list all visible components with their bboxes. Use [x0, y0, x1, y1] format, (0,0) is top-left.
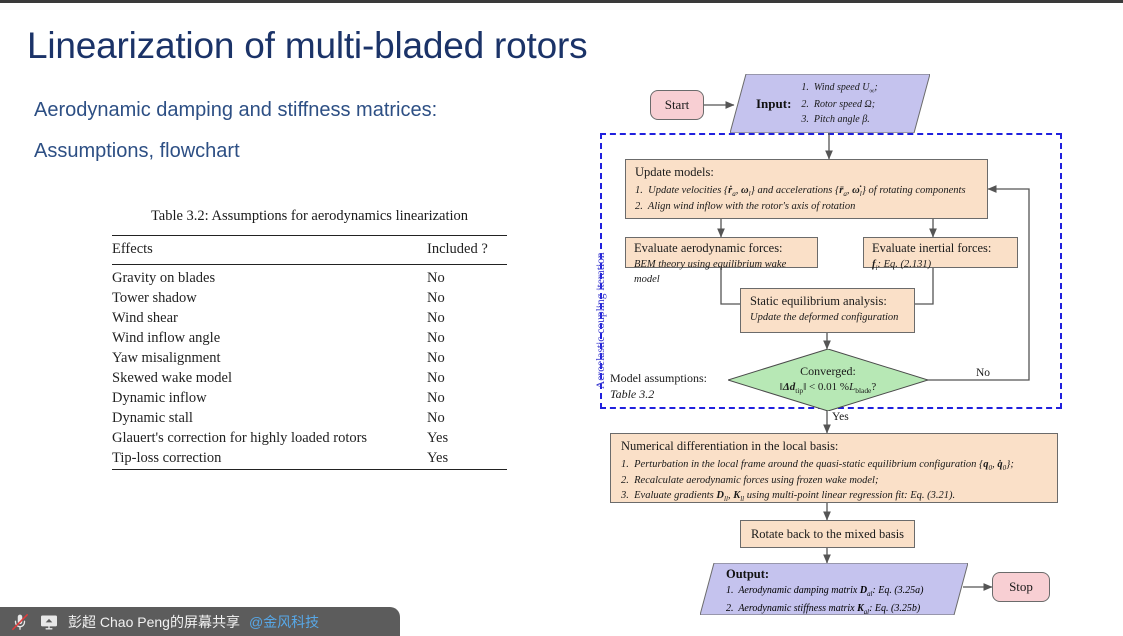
- cell-included: No: [419, 309, 507, 329]
- table-row: Tower shadowNo: [112, 289, 507, 309]
- page-title: Linearization of multi-bladed rotors: [27, 25, 587, 67]
- table-row: Yaw misalignmentNo: [112, 349, 507, 369]
- input-node[interactable]: Input: 1. Wind speed U∞; 2. Rotor speed …: [730, 74, 930, 133]
- decision-line-1: Converged:: [800, 364, 856, 379]
- subtitle-line-1: Aerodynamic damping and stiffness matric…: [34, 99, 437, 122]
- input-item-1: 1. Wind speed U∞;: [801, 80, 877, 97]
- microphone-muted-icon[interactable]: [10, 612, 30, 632]
- screen-share-icon[interactable]: [39, 612, 59, 632]
- static-equilibrium-node[interactable]: Static equilibrium analysis: Update the …: [740, 288, 915, 333]
- cell-included: No: [419, 265, 507, 289]
- cell-effect: Dynamic stall: [112, 409, 419, 429]
- cell-effect: Yaw misalignment: [112, 349, 419, 369]
- output-item-1: 1. Aerodynamic damping matrix Dal: Eq. (…: [726, 583, 968, 601]
- organization-label: @金风科技: [249, 612, 319, 632]
- input-item-2: 2. Rotor speed Ω;: [801, 97, 877, 112]
- cell-effect: Gravity on blades: [112, 265, 419, 289]
- output-item-2: 2. Aerodynamic stiffness matrix Kal: Eq.…: [726, 601, 968, 619]
- table-row: Skewed wake modelNo: [112, 369, 507, 389]
- cell-included: Yes: [419, 429, 507, 449]
- aero-forces-heading: Evaluate aerodynamic forces:: [634, 241, 809, 257]
- cell-effect: Glauert's correction for highly loaded r…: [112, 429, 419, 449]
- table-caption: Table 3.2: Assumptions for aerodynamics …: [112, 208, 507, 225]
- converged-decision-node[interactable]: Converged: ‖Δdtip‖ < 0.01 %Lblade?: [728, 349, 928, 411]
- inertial-forces-heading: Evaluate inertial forces:: [872, 241, 1009, 257]
- screen-share-taskbar: 彭超 Chao Peng的屏幕共享 @金风科技: [0, 607, 400, 636]
- model-assumptions-heading: Model assumptions:: [610, 371, 707, 387]
- output-label: Output:: [726, 567, 968, 582]
- update-models-heading: Update models:: [635, 165, 978, 181]
- cell-included: No: [419, 389, 507, 409]
- assumptions-table: Effects Included ? Gravity on bladesNoTo…: [112, 235, 507, 470]
- numerical-diff-heading: Numerical differentiation in the local b…: [621, 439, 1047, 455]
- column-header-effects: Effects: [112, 236, 419, 265]
- static-eq-heading: Static equilibrium analysis:: [750, 294, 905, 310]
- cell-effect: Wind inflow angle: [112, 329, 419, 349]
- table-bottom-rule: [112, 469, 507, 470]
- numerical-differentiation-node[interactable]: Numerical differentiation in the local b…: [610, 433, 1058, 503]
- table-row: Dynamic stallNo: [112, 409, 507, 429]
- branch-label-yes: Yes: [832, 411, 849, 423]
- evaluate-aerodynamic-forces-node[interactable]: Evaluate aerodynamic forces: BEM theory …: [625, 237, 818, 268]
- update-models-item-1: 1. Update velocities {ṙa, ωl} and accele…: [635, 183, 978, 199]
- stop-node[interactable]: Stop: [992, 572, 1050, 602]
- input-item-3: 3. Pitch angle β.: [801, 112, 877, 127]
- cell-effect: Tip-loss correction: [112, 449, 419, 470]
- table-row: Glauert's correction for highly loaded r…: [112, 429, 507, 449]
- flowchart: Aeroelastic coupling iteration: [588, 71, 1116, 616]
- static-eq-detail: Update the deformed configuration: [750, 310, 905, 325]
- cell-effect: Skewed wake model: [112, 369, 419, 389]
- model-assumptions-note: Model assumptions: Table 3.2: [610, 371, 707, 402]
- cell-included: No: [419, 409, 507, 429]
- numerical-diff-item-3: 3. Evaluate gradients Dll, Kll using mul…: [621, 488, 1047, 504]
- cell-included: No: [419, 349, 507, 369]
- table-row: Wind shearNo: [112, 309, 507, 329]
- output-node[interactable]: Output: 1. Aerodynamic damping matrix Da…: [700, 563, 968, 615]
- rotate-back-node[interactable]: Rotate back to the mixed basis: [740, 520, 915, 548]
- update-models-node[interactable]: Update models: 1. Update velocities {ṙa,…: [625, 159, 988, 219]
- update-models-item-2: 2. Align wind inflow with the rotor's ax…: [635, 199, 978, 214]
- table-header-row: Effects Included ?: [112, 236, 507, 265]
- evaluate-inertial-forces-node[interactable]: Evaluate inertial forces: fi: Eq. (2.131…: [863, 237, 1018, 268]
- subtitle-line-2: Assumptions, flowchart: [34, 140, 240, 163]
- decision-line-2: ‖Δdtip‖ < 0.01 %Lblade?: [780, 381, 877, 395]
- inertial-forces-detail: fi: Eq. (2.131): [872, 257, 1009, 273]
- aero-forces-detail: BEM theory using equilibrium wake model: [634, 257, 809, 287]
- cell-effect: Dynamic inflow: [112, 389, 419, 409]
- table-row: Tip-loss correctionYes: [112, 449, 507, 470]
- column-header-included: Included ?: [419, 236, 507, 265]
- assumptions-table-block: Table 3.2: Assumptions for aerodynamics …: [112, 208, 507, 470]
- table-body: Gravity on bladesNoTower shadowNoWind sh…: [112, 265, 507, 470]
- cell-included: No: [419, 369, 507, 389]
- numerical-diff-item-1: 1. Perturbation in the local frame aroun…: [621, 457, 1047, 473]
- start-node[interactable]: Start: [650, 90, 704, 120]
- table-row: Wind inflow angleNo: [112, 329, 507, 349]
- input-label: Input:: [756, 96, 791, 112]
- presenter-name-label: 彭超 Chao Peng的屏幕共享: [68, 612, 240, 632]
- cell-effect: Wind shear: [112, 309, 419, 329]
- cell-included: No: [419, 289, 507, 309]
- cell-effect: Tower shadow: [112, 289, 419, 309]
- table-row: Dynamic inflowNo: [112, 389, 507, 409]
- branch-label-no: No: [976, 367, 990, 379]
- presentation-slide: Linearization of multi-bladed rotors Aer…: [0, 0, 1123, 636]
- model-assumptions-detail: Table 3.2: [610, 387, 707, 403]
- numerical-diff-item-2: 2. Recalculate aerodynamic forces using …: [621, 473, 1047, 488]
- table-row: Gravity on bladesNo: [112, 265, 507, 289]
- cell-included: Yes: [419, 449, 507, 470]
- cell-included: No: [419, 329, 507, 349]
